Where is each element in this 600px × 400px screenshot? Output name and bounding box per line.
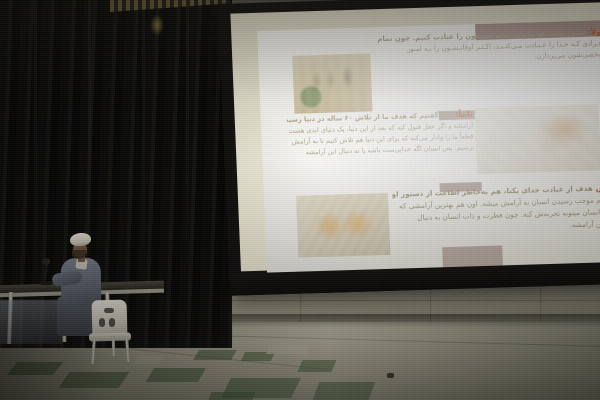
slide-image-texture [292, 53, 372, 113]
slide-image-praying-hands [296, 193, 391, 258]
microphone-base [40, 281, 52, 285]
chair-back-slot [109, 318, 115, 327]
slide-image-texture [296, 193, 391, 258]
stacked-chairs [0, 300, 62, 344]
projected-slide: اولاً: تصور نکنید که ما باید تمام عمرمون… [257, 20, 600, 279]
curtain-fold [142, 0, 145, 320]
microphone-head [42, 258, 50, 265]
screen-mat: اولاً: تصور نکنید که ما باید تمام عمرمون… [230, 2, 600, 271]
chair-back-slot [104, 308, 114, 313]
speaker-beard [72, 250, 86, 259]
slide-section-one-text: اولاً: تصور نکنید که ما باید تمام عمرمون… [375, 26, 600, 67]
slide-section-two-text: ثانیاً: قبلاً گفتیم که هدف ما از تلاش ۶۰… [287, 108, 475, 159]
slide-image-family-gathering [292, 53, 372, 113]
slide-section-three-text: پس هدف از عبادت خدای یکتا، هم به‌خاطر اط… [392, 182, 600, 237]
slide-image-sleeping-baby [474, 104, 600, 174]
chair-leg [112, 336, 116, 356]
curtain-fold [186, 0, 189, 300]
slide-image-texture [474, 104, 600, 174]
chair-back-slot [99, 318, 105, 327]
curtain-fold [34, 0, 37, 330]
curtain-light-glint [150, 14, 164, 36]
lecture-hall-scene: اولاً: تصور نکنید که ما باید تمام عمرمون… [0, 0, 600, 400]
projection-screen: اولاً: تصور نکنید که ما باید تمام عمرمون… [218, 0, 600, 296]
wall-floor-shadow [175, 314, 600, 328]
small-floor-object [387, 373, 394, 378]
